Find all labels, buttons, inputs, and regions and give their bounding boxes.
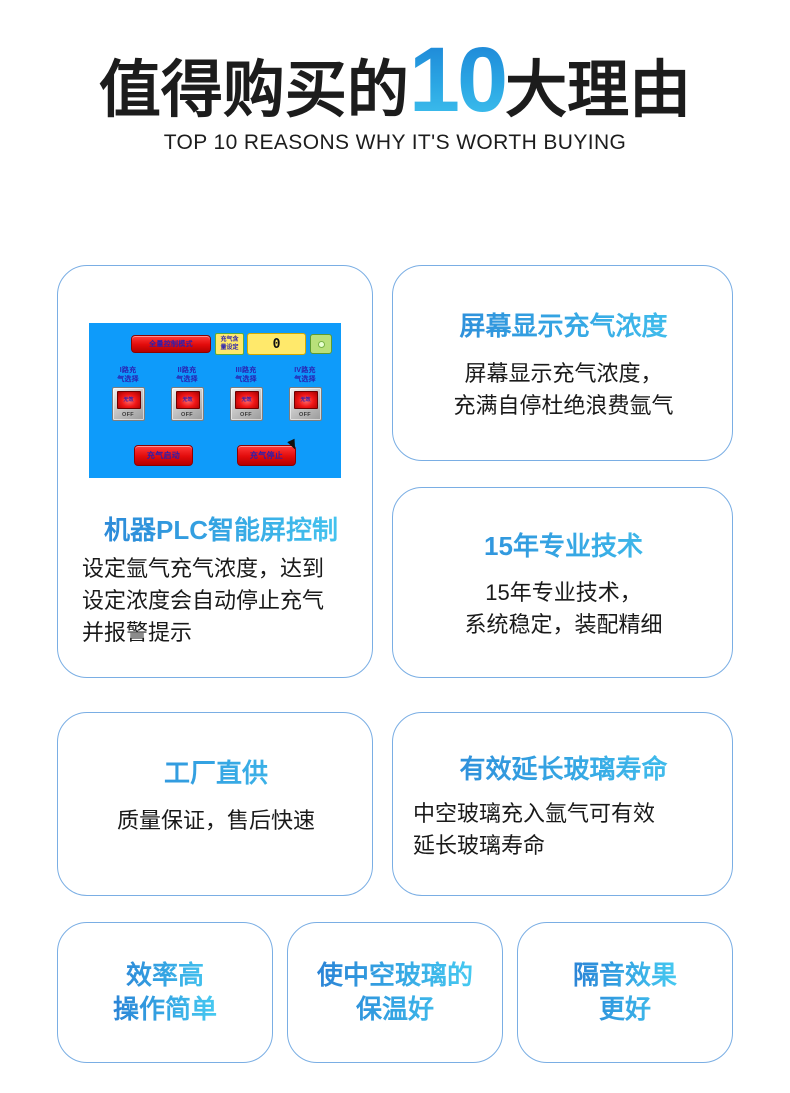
plc-switch-2-label: II路充 气选择	[164, 367, 210, 385]
plc-switch-4-body[interactable]: 无效 OFF	[289, 387, 322, 421]
plc-switch-3-state: OFF	[231, 412, 262, 418]
plc-switch-1-body[interactable]: 无效 OFF	[112, 387, 145, 421]
card-plc-body-line2: 设定浓度会自动停止充气	[82, 585, 366, 617]
card-thermal-title: 使中空玻璃的 保温好	[317, 959, 473, 1027]
plc-mode-button[interactable]: 全量控制模式	[131, 335, 211, 353]
plc-switch-3-body[interactable]: 无效 OFF	[230, 387, 263, 421]
card-display-body-line2: 充满自停杜绝浪费氩气	[393, 390, 734, 422]
green-lamp-icon	[318, 341, 325, 348]
card-years-body-line1: 15年专业技术，	[393, 577, 734, 609]
card-plc-body-line3: 并报警提示	[82, 617, 366, 649]
card-screen-display: 屏幕显示充气浓度 屏幕显示充气浓度， 充满自停杜绝浪费氩气	[392, 265, 733, 461]
plc-switch-4-label: IV路充 气选择	[282, 367, 328, 385]
card-efficiency: 效率高 操作简单	[57, 922, 273, 1063]
plc-switch-1-lamp: 无效	[117, 391, 141, 409]
plc-switch-3[interactable]: III路充 气选择 无效 OFF	[223, 367, 269, 421]
card-thermal-insulation: 使中空玻璃的 保温好	[287, 922, 503, 1063]
card-lifespan-title: 有效延长玻璃寿命	[393, 755, 734, 785]
plc-switch-2[interactable]: II路充 气选择 无效 OFF	[164, 367, 210, 421]
card-factory-body: 质量保证，售后快速	[58, 805, 374, 837]
card-efficiency-title: 效率高 操作简单	[113, 959, 217, 1027]
title-prefix: 值得购买的	[99, 56, 409, 125]
card-years-body: 15年专业技术， 系统稳定，装配精细	[393, 577, 734, 641]
card-display-body: 屏幕显示充气浓度， 充满自停杜绝浪费氩气	[393, 358, 734, 422]
plc-switch-2-label-line2: 气选择	[164, 376, 210, 385]
plc-switch-3-label-line2: 气选择	[223, 376, 269, 385]
plc-status-indicator	[310, 334, 332, 354]
title-suffix: 大理由	[505, 56, 691, 125]
plc-switch-3-lamp: 无效	[235, 391, 259, 409]
plc-stop-button[interactable]: 充气停止	[237, 445, 296, 466]
plc-switch-1[interactable]: I路充 气选择 无效 OFF	[105, 367, 151, 421]
plc-switch-2-body[interactable]: 无效 OFF	[171, 387, 204, 421]
plc-switch-1-label: I路充 气选择	[105, 367, 151, 385]
plc-setting-label-line2: 量设定	[220, 344, 238, 352]
card-lifespan-body-line1: 中空玻璃充入氩气可有效	[413, 798, 734, 830]
plc-switch-1-label-line1: I路充	[105, 367, 151, 376]
plc-switch-4[interactable]: IV路充 气选择 无效 OFF	[282, 367, 328, 421]
card-years-body-line2: 系统稳定，装配精细	[393, 609, 734, 641]
card-thermal-title-line2: 保温好	[317, 993, 473, 1027]
card-lifespan-body: 中空玻璃充入氩气可有效 延长玻璃寿命	[413, 798, 734, 862]
page-title: 值得购买的10大理由	[0, 34, 790, 126]
card-efficiency-title-line1: 效率高	[113, 959, 217, 993]
plc-switch-4-label-line2: 气选择	[282, 376, 328, 385]
title-number: 10	[409, 29, 505, 131]
plc-switch-4-label-line1: IV路充	[282, 367, 328, 376]
plc-setting-label-line1: 充气含	[220, 336, 238, 344]
plc-setting-label: 充气含 量设定	[215, 333, 244, 355]
card-plc-control: 全量控制模式 充气含 量设定 0 I路充 气选择 无效 OFF II路充	[57, 265, 373, 678]
plc-switch-1-state: OFF	[113, 412, 144, 418]
card-plc-title: 机器PLC智能屏控制	[76, 516, 366, 546]
card-factory-body-line1: 质量保证，售后快速	[58, 805, 374, 837]
card-display-body-line1: 屏幕显示充气浓度，	[393, 358, 734, 390]
card-years-title: 15年专业技术	[393, 532, 734, 562]
card-glass-lifespan: 有效延长玻璃寿命 中空玻璃充入氩气可有效 延长玻璃寿命	[392, 712, 733, 896]
card-noise-title: 隔音效果 更好	[573, 959, 677, 1027]
card-thermal-title-line1: 使中空玻璃的	[317, 959, 473, 993]
plc-start-button[interactable]: 充气启动	[134, 445, 193, 466]
plc-switch-4-lamp: 无效	[294, 391, 318, 409]
plc-switch-1-label-line2: 气选择	[105, 376, 151, 385]
plc-switch-2-state: OFF	[172, 412, 203, 418]
plc-screen-image: 全量控制模式 充气含 量设定 0 I路充 气选择 无效 OFF II路充	[89, 323, 341, 478]
card-fifteen-years: 15年专业技术 15年专业技术， 系统稳定，装配精细	[392, 487, 733, 678]
card-factory-title: 工厂直供	[58, 759, 374, 789]
plc-switch-2-label-line1: II路充	[164, 367, 210, 376]
card-plc-text: 机器PLC智能屏控制 设定氩气充气浓度，达到 设定浓度会自动停止充气 并报警提示	[76, 516, 366, 649]
page-subtitle: TOP 10 REASONS WHY IT'S WORTH BUYING	[0, 131, 790, 155]
plc-switch-2-lamp: 无效	[176, 391, 200, 409]
card-display-title: 屏幕显示充气浓度	[393, 312, 734, 342]
card-lifespan-body-line2: 延长玻璃寿命	[413, 830, 734, 862]
plc-concentration-value[interactable]: 0	[247, 333, 306, 355]
plc-switch-3-label-line1: III路充	[223, 367, 269, 376]
card-noise-title-line1: 隔音效果	[573, 959, 677, 993]
page-header: 值得购买的10大理由 TOP 10 REASONS WHY IT'S WORTH…	[0, 0, 790, 200]
card-noise-reduction: 隔音效果 更好	[517, 922, 733, 1063]
card-efficiency-title-line2: 操作简单	[113, 993, 217, 1027]
card-noise-title-line2: 更好	[573, 993, 677, 1027]
card-plc-body-line1: 设定氩气充气浓度，达到	[82, 553, 366, 585]
card-plc-body: 设定氩气充气浓度，达到 设定浓度会自动停止充气 并报警提示	[76, 553, 366, 649]
plc-switch-3-label: III路充 气选择	[223, 367, 269, 385]
card-factory-direct: 工厂直供 质量保证，售后快速	[57, 712, 373, 896]
plc-switch-4-state: OFF	[290, 412, 321, 418]
